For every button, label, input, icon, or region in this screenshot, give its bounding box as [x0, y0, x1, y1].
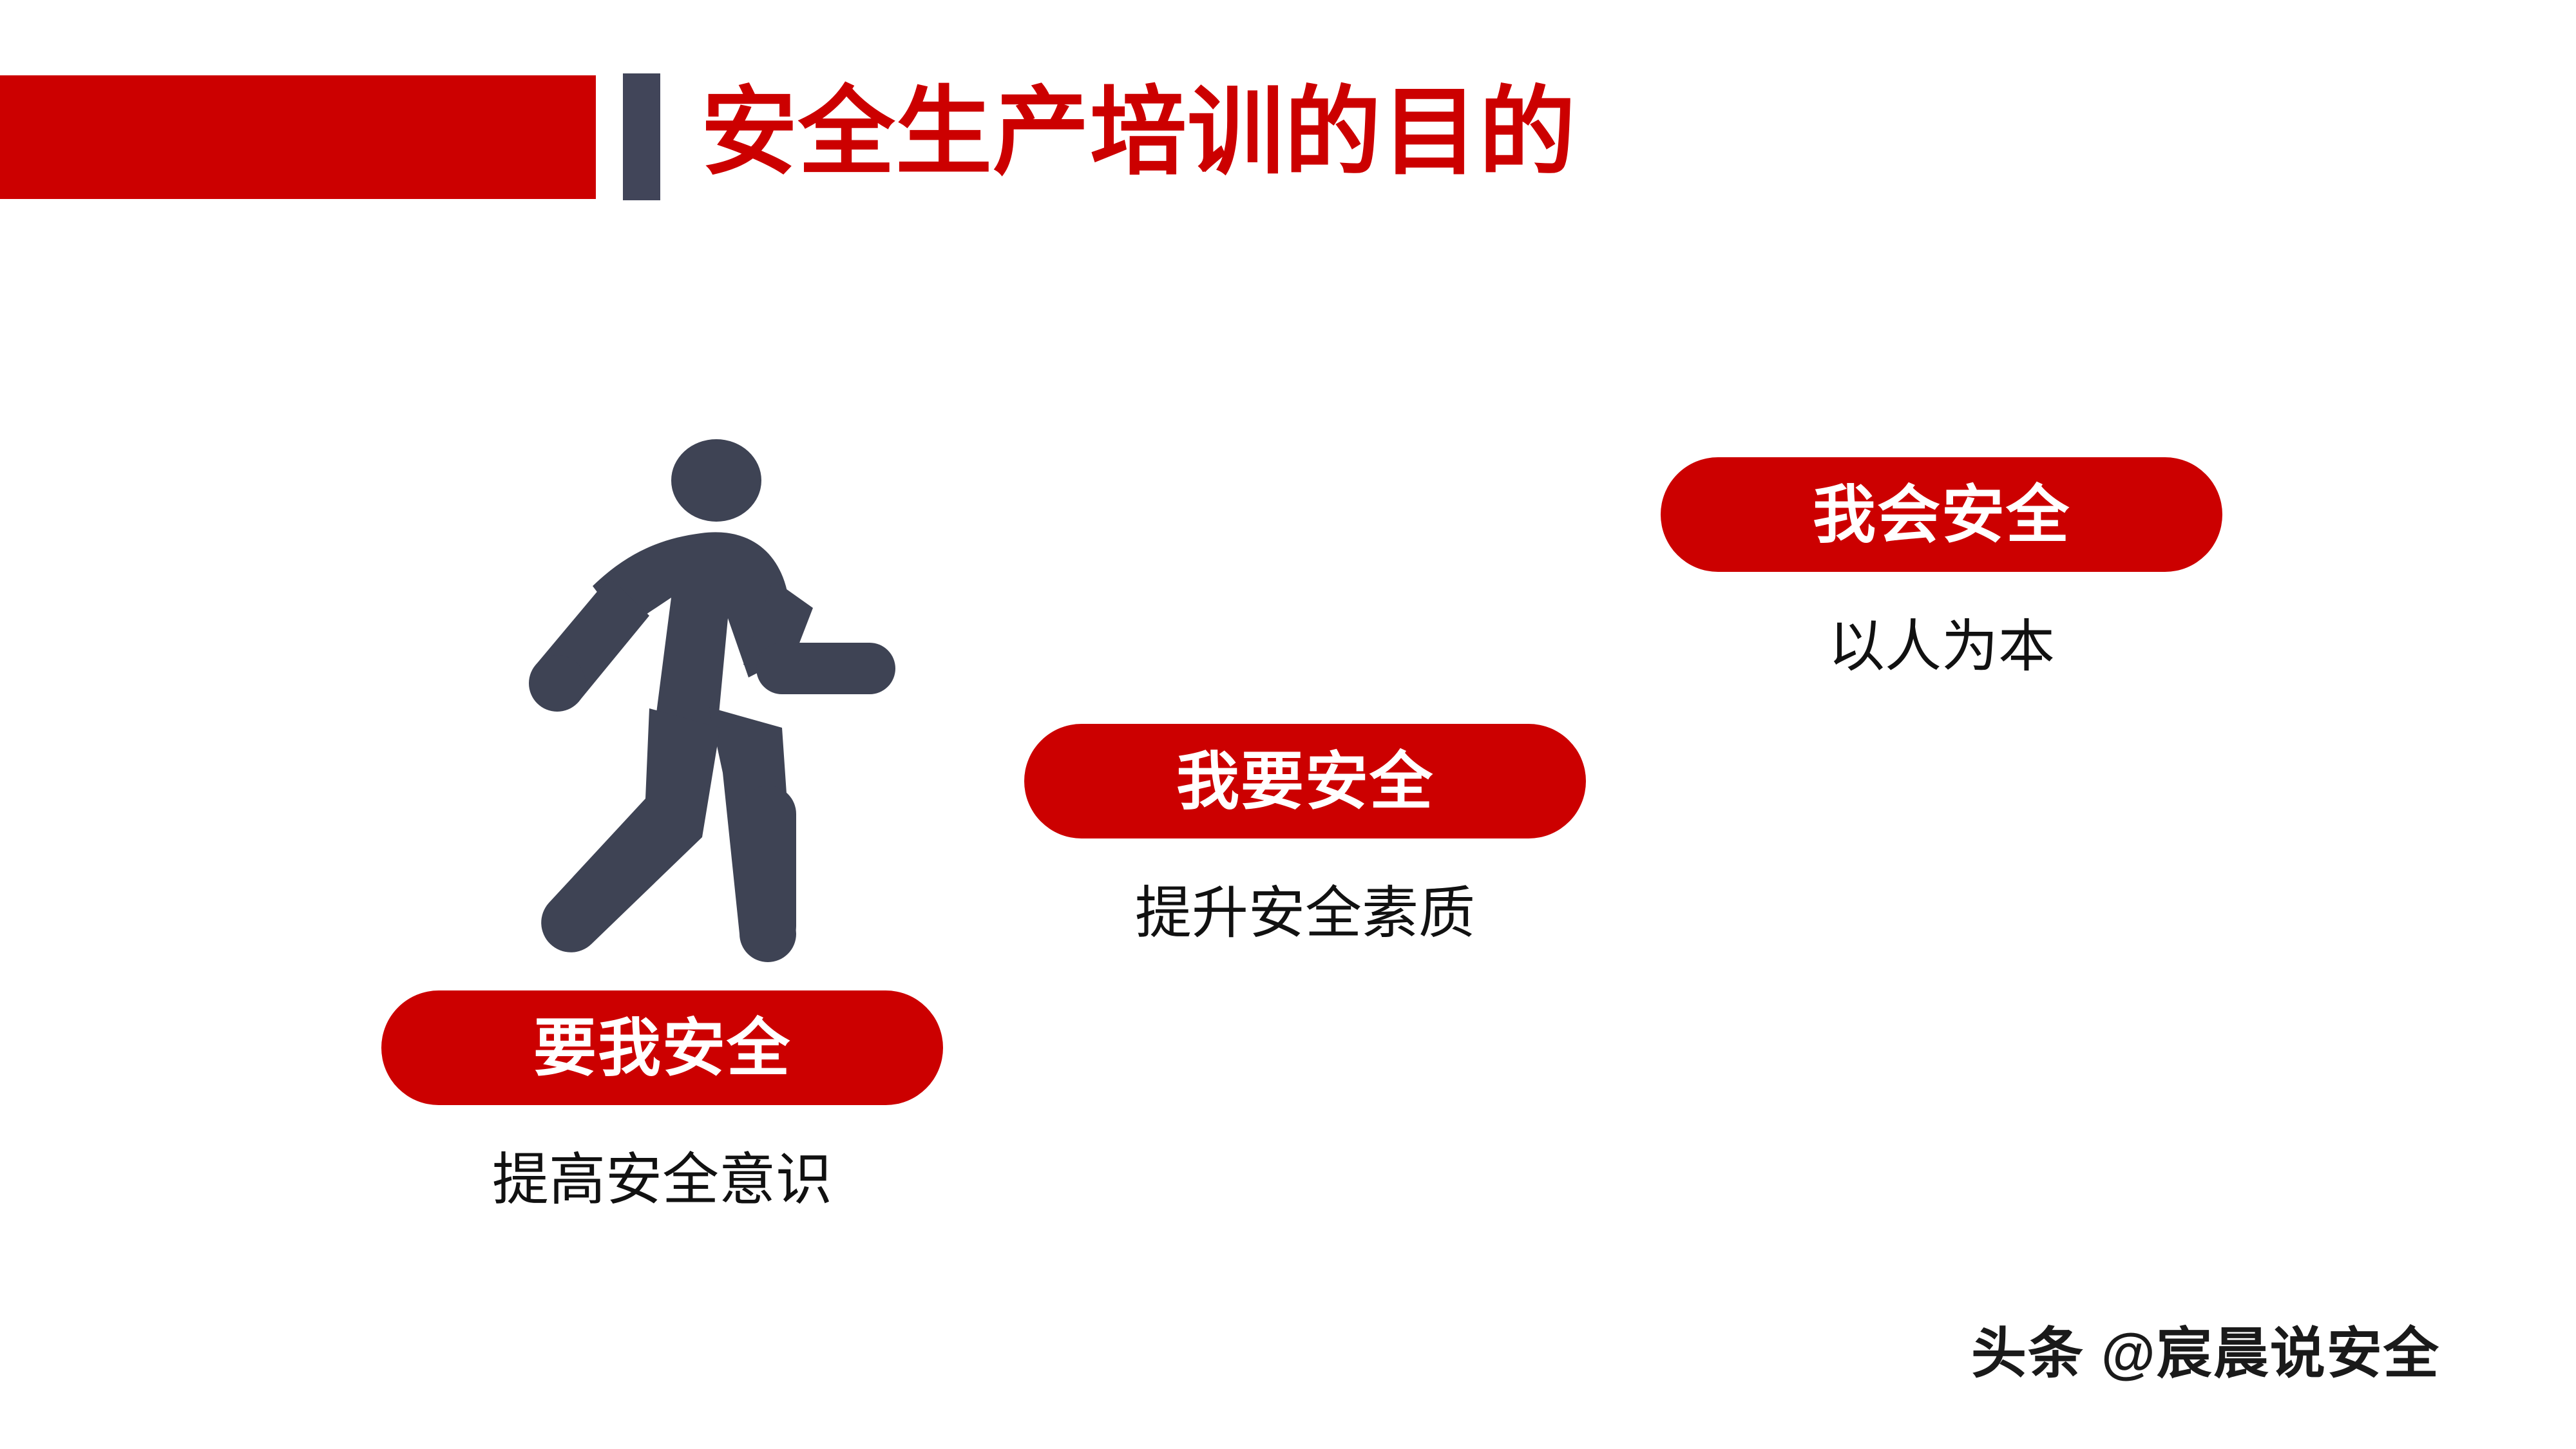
step-pill-1[interactable]: 要我安全 [381, 990, 943, 1105]
watermark-text: 头条 @宸晨说安全 [1971, 1323, 2440, 1385]
slide-canvas: 安全生产培训的目的 [0, 0, 2576, 1449]
step-caption-2: 提升安全素质 [1024, 885, 1586, 942]
step-pill-label-2: 我要安全 [1176, 750, 1434, 813]
step-pill-label-1: 要我安全 [533, 1016, 791, 1079]
header-accent-bar [623, 73, 660, 200]
step-pill-label-3: 我会安全 [1813, 483, 2070, 546]
page-title: 安全生产培训的目的 [701, 77, 1576, 187]
step-caption-1: 提高安全意识 [381, 1151, 943, 1208]
step-caption-3: 以人为本 [1661, 618, 2222, 675]
step-pill-3[interactable]: 我会安全 [1661, 457, 2222, 572]
step-pill-2[interactable]: 我要安全 [1024, 724, 1586, 838]
header-red-bar [0, 75, 596, 199]
walking-person-icon [496, 425, 908, 979]
